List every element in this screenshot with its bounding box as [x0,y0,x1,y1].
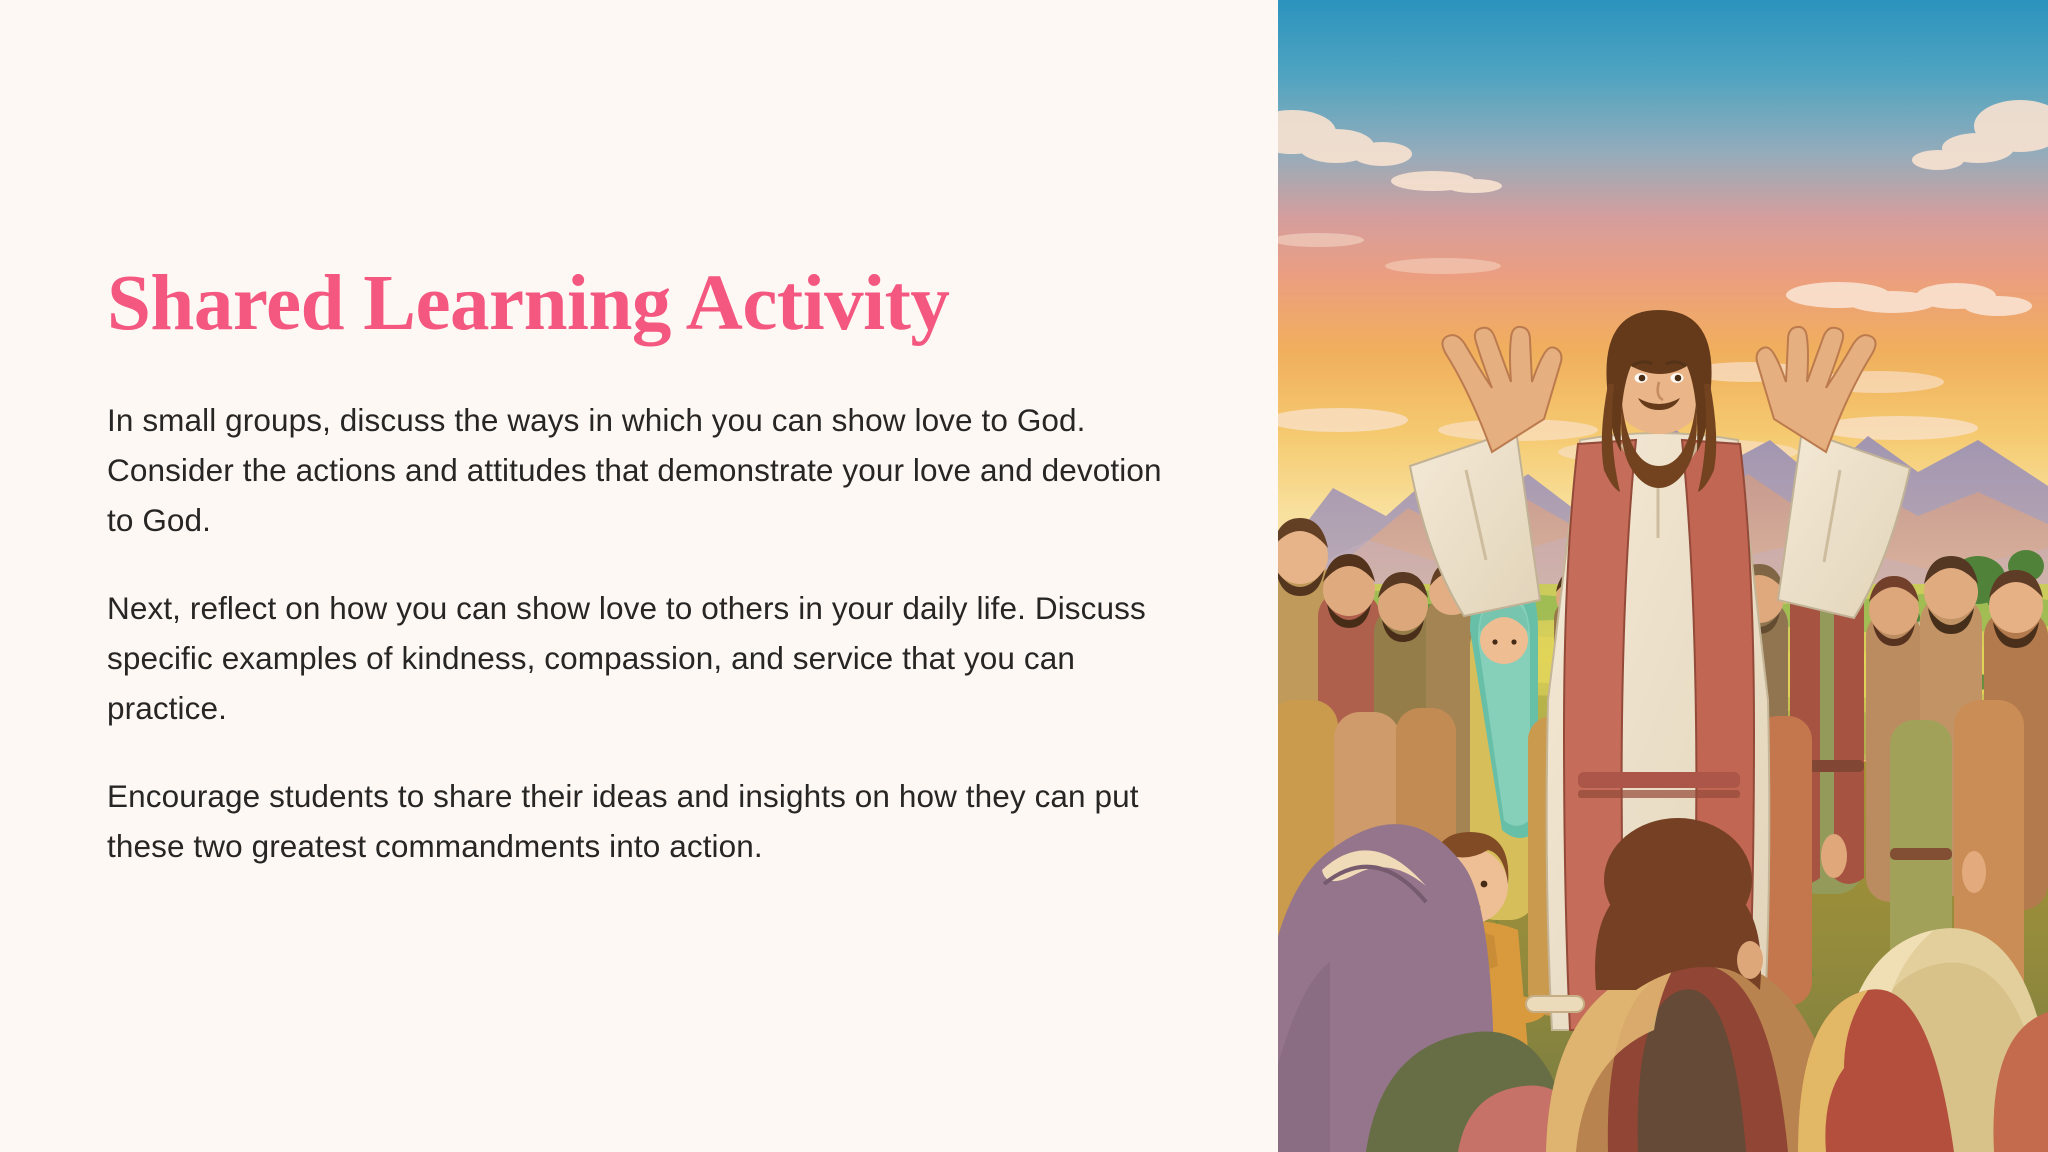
slide-root: Shared Learning Activity In small groups… [0,0,2048,1152]
text-panel: Shared Learning Activity In small groups… [0,0,1278,1152]
body-paragraph-2: Next, reflect on how you can show love t… [107,583,1162,733]
text-content-block: Shared Learning Activity In small groups… [107,264,1162,871]
page-title: Shared Learning Activity [107,264,1162,343]
body-paragraph-1: In small groups, discuss the ways in whi… [107,395,1162,545]
illustration-panel [1278,0,2048,1152]
warm-overlay [1278,0,2048,1152]
jesus-teaching-crowd-illustration [1278,0,2048,1152]
body-paragraph-3: Encourage students to share their ideas … [107,771,1162,871]
